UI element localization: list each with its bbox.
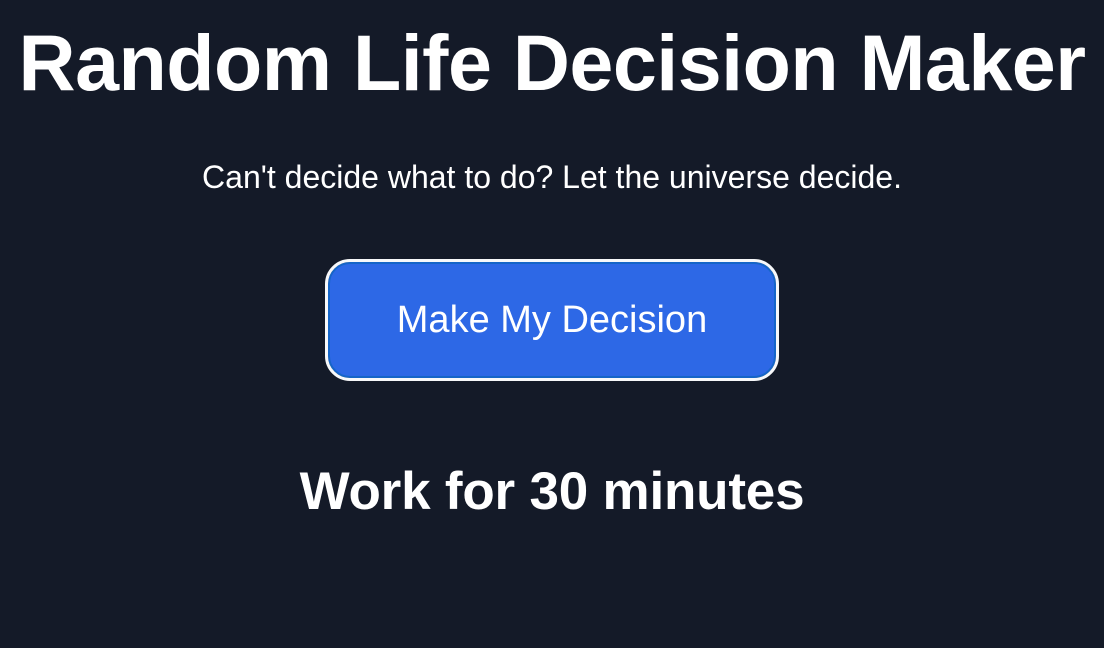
page-subtitle: Can't decide what to do? Let the univers…	[0, 157, 1104, 197]
make-my-decision-button[interactable]: Make My Decision	[328, 262, 776, 378]
page-title: Random Life Decision Maker	[0, 15, 1104, 111]
action-area: Make My Decision	[0, 262, 1104, 378]
decision-result: Work for 30 minutes	[0, 452, 1104, 532]
app-root: Random Life Decision Maker Can't decide …	[0, 0, 1104, 648]
